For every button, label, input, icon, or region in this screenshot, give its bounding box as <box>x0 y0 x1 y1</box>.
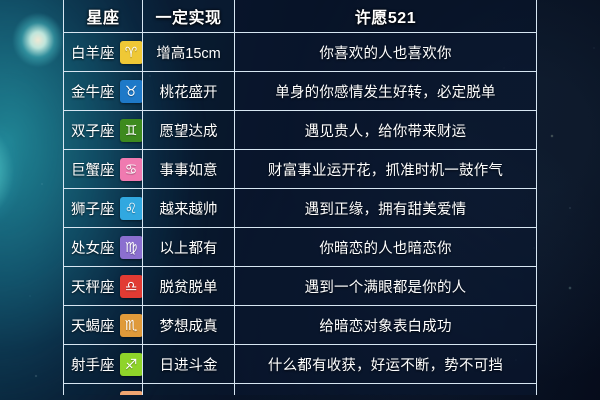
cell-constellation: 狮子座♌ <box>63 188 142 227</box>
cell-constellation: 金牛座♉ <box>63 71 142 110</box>
detail-label: 给暗恋对象表白成功 <box>319 315 451 336</box>
cell-constellation: 巨蟹座♋ <box>63 149 142 188</box>
cell-detail: 什么都有收获，好运不断，势不可挡 <box>234 344 537 383</box>
poster-stage: 星座 一定实现 许愿521 白羊座♈增高15cm你喜欢的人也喜欢你金牛座♉桃花盛… <box>0 0 600 400</box>
wish-label: 桃花盛开 <box>160 81 218 102</box>
cell-wish: 万事顺利 <box>142 383 234 395</box>
table-row: 处女座♍以上都有你暗恋的人也暗恋你 <box>63 227 537 266</box>
cell-constellation: 白羊座♈ <box>63 32 142 71</box>
table-header-row: 星座 一定实现 许愿521 <box>63 0 537 32</box>
constellation-label: 双子座 <box>71 120 115 141</box>
wish-label: 脱贫脱单 <box>160 276 218 297</box>
cell-constellation: 天秤座♎ <box>63 266 142 305</box>
cell-detail: 给暗恋对象表白成功 <box>234 305 537 344</box>
cell-wish: 事事如意 <box>142 149 234 188</box>
cell-wish: 桃花盛开 <box>142 71 234 110</box>
constellation-label: 金牛座 <box>71 81 115 102</box>
table-row: 金牛座♉桃花盛开单身的你感情发生好转，必定脱单 <box>63 71 537 110</box>
zodiac-glyph: ♎ <box>125 279 138 293</box>
wish-label: 越来越帅 <box>160 198 218 219</box>
cell-detail: 你暗恋的人也暗恋你 <box>234 227 537 266</box>
table-row: 摩羯座♑万事顺利健健康康快快乐乐过完这一年 <box>63 383 537 395</box>
cell-wish: 愿望达成 <box>142 110 234 149</box>
zodiac-wish-table: 星座 一定实现 许愿521 白羊座♈增高15cm你喜欢的人也喜欢你金牛座♉桃花盛… <box>63 0 537 395</box>
table-row: 双子座♊愿望达成遇见贵人，给你带来财运 <box>63 110 537 149</box>
constellation-label: 巨蟹座 <box>71 159 115 180</box>
constellation-label: 摩羯座 <box>71 392 115 395</box>
constellation-label: 处女座 <box>71 237 115 258</box>
cell-detail: 财富事业运开花，抓准时机一鼓作气 <box>234 149 537 188</box>
detail-label: 遇到正缘，拥有甜美爱情 <box>305 198 467 219</box>
cell-detail: 你喜欢的人也喜欢你 <box>234 32 537 71</box>
wish-label: 事事如意 <box>160 159 218 180</box>
detail-label: 你喜欢的人也喜欢你 <box>319 42 451 63</box>
constellation-label: 白羊座 <box>71 42 115 63</box>
detail-label: 你暗恋的人也暗恋你 <box>319 237 451 258</box>
constellation-label: 天蝎座 <box>71 315 115 336</box>
table-row: 狮子座♌越来越帅遇到正缘，拥有甜美爱情 <box>63 188 537 227</box>
table-row: 天秤座♎脱贫脱单遇到一个满眼都是你的人 <box>63 266 537 305</box>
wish-label: 增高15cm <box>156 42 220 63</box>
detail-label: 什么都有收获，好运不断，势不可挡 <box>268 354 503 375</box>
cell-constellation: 双子座♊ <box>63 110 142 149</box>
cell-wish: 梦想成真 <box>142 305 234 344</box>
wish-label: 梦想成真 <box>160 315 218 336</box>
cell-wish: 增高15cm <box>142 32 234 71</box>
table-row: 天蝎座♏梦想成真给暗恋对象表白成功 <box>63 305 537 344</box>
wish-label: 万事顺利 <box>160 392 218 395</box>
header-cell-detail: 许愿521 <box>234 0 537 32</box>
taurus-icon: ♉ <box>120 80 143 103</box>
zodiac-glyph: ♈ <box>125 45 138 59</box>
zodiac-glyph: ♌ <box>125 201 138 215</box>
wish-label: 日进斗金 <box>160 354 218 375</box>
table-row: 白羊座♈增高15cm你喜欢的人也喜欢你 <box>63 32 537 71</box>
cell-detail: 遇见贵人，给你带来财运 <box>234 110 537 149</box>
cell-detail: 遇到正缘，拥有甜美爱情 <box>234 188 537 227</box>
table-row: 射手座♐日进斗金什么都有收获，好运不断，势不可挡 <box>63 344 537 383</box>
cell-constellation: 天蝎座♏ <box>63 305 142 344</box>
detail-label: 单身的你感情发生好转，必定脱单 <box>275 81 496 102</box>
header-cell-constellation: 星座 <box>63 0 142 32</box>
capricorn-icon: ♑ <box>120 391 143 395</box>
cell-wish: 以上都有 <box>142 227 234 266</box>
table-row: 巨蟹座♋事事如意财富事业运开花，抓准时机一鼓作气 <box>63 149 537 188</box>
cell-detail: 单身的你感情发生好转，必定脱单 <box>234 71 537 110</box>
cell-detail: 遇到一个满眼都是你的人 <box>234 266 537 305</box>
detail-label: 遇到一个满眼都是你的人 <box>305 276 467 297</box>
cancer-icon: ♋ <box>120 158 143 181</box>
constellation-label: 狮子座 <box>71 198 115 219</box>
zodiac-glyph: ♍ <box>125 240 138 254</box>
leo-icon: ♌ <box>120 197 143 220</box>
detail-label: 遇见贵人，给你带来财运 <box>305 120 467 141</box>
cell-wish: 脱贫脱单 <box>142 266 234 305</box>
cell-constellation: 处女座♍ <box>63 227 142 266</box>
cell-detail: 健健康康快快乐乐过完这一年 <box>234 383 537 395</box>
aries-icon: ♈ <box>120 41 143 64</box>
zodiac-glyph: ♐ <box>125 357 138 371</box>
detail-label: 健健康康快快乐乐过完这一年 <box>290 392 481 395</box>
zodiac-glyph: ♏ <box>125 318 138 332</box>
header-cell-wish: 一定实现 <box>142 0 234 32</box>
detail-label: 财富事业运开花，抓准时机一鼓作气 <box>268 159 503 180</box>
cell-wish: 越来越帅 <box>142 188 234 227</box>
virgo-icon: ♍ <box>120 236 143 259</box>
libra-icon: ♎ <box>120 275 143 298</box>
constellation-label: 天秤座 <box>71 276 115 297</box>
wish-label: 以上都有 <box>160 237 218 258</box>
scorpio-icon: ♏ <box>120 314 143 337</box>
cell-constellation: 摩羯座♑ <box>63 383 142 395</box>
cell-wish: 日进斗金 <box>142 344 234 383</box>
zodiac-glyph: ♉ <box>125 84 138 98</box>
gemini-icon: ♊ <box>120 119 143 142</box>
wish-label: 愿望达成 <box>160 120 218 141</box>
sagittarius-icon: ♐ <box>120 353 143 376</box>
zodiac-glyph: ♊ <box>125 123 138 137</box>
zodiac-glyph: ♋ <box>125 162 138 176</box>
cell-constellation: 射手座♐ <box>63 344 142 383</box>
constellation-label: 射手座 <box>71 354 115 375</box>
